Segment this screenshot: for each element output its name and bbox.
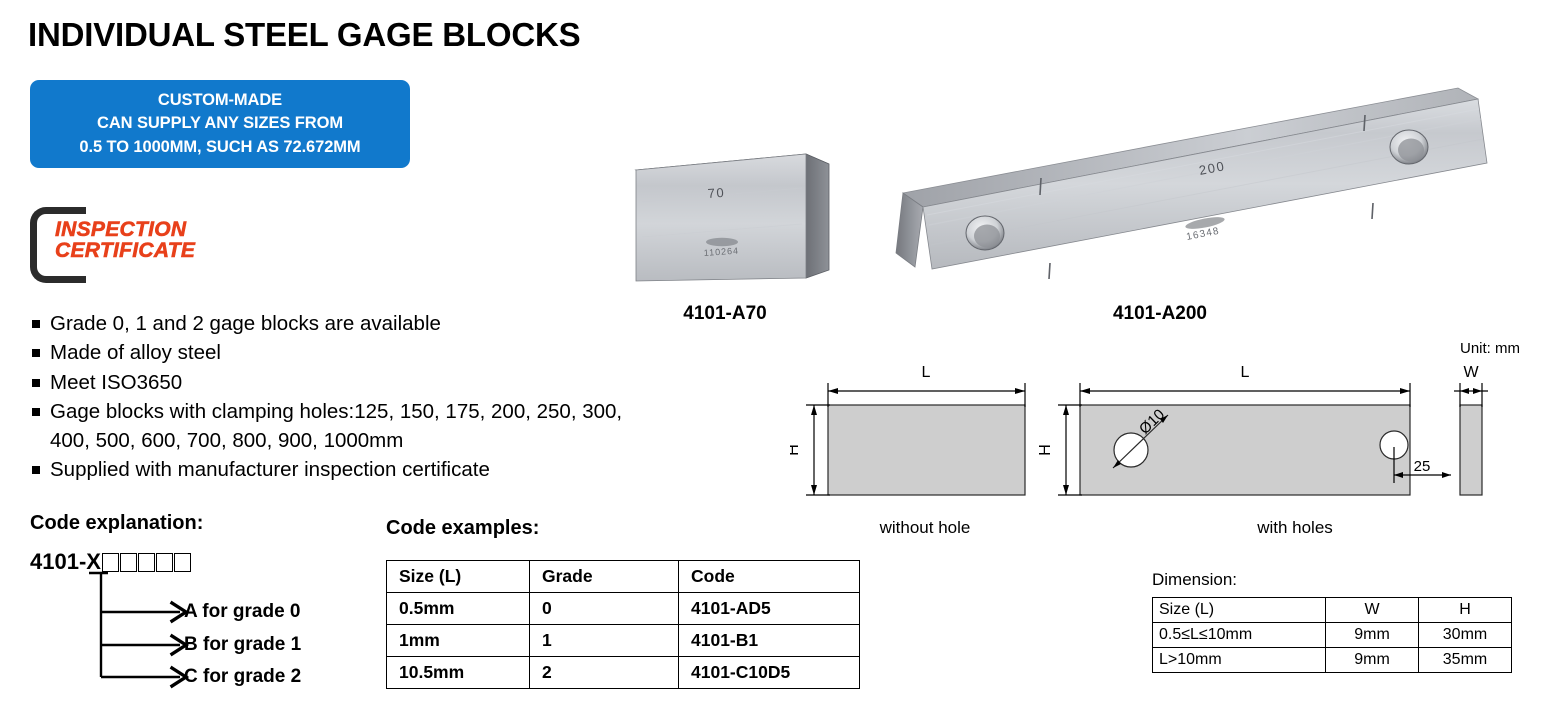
svg-text:W: W [1463,364,1479,381]
column-header-grade: Grade [530,561,679,593]
column-header-size: Size (L) [387,561,530,593]
cell-w: 9mm [1326,623,1419,648]
column-header-w: W [1326,598,1419,623]
cell-h: 35mm [1419,648,1512,673]
list-item: Grade 0, 1 and 2 gage blocks are availab… [32,310,632,338]
column-header-size: Size (L) [1153,598,1326,623]
inspection-logo-text: INSPECTION CERTIFICATE [55,219,195,262]
svg-text:L: L [922,364,931,381]
list-item: Made of alloy steel [32,339,632,367]
table-row: 1mm 1 4101-B1 [387,625,860,657]
code-branch-label-a: A for grade 0 [184,601,301,623]
code-examples-table: Size (L) Grade Code 0.5mm 0 4101-AD5 1mm… [386,560,860,689]
svg-text:70: 70 [707,185,725,201]
product-label-4101-a70: 4101-A70 [610,303,840,325]
svg-text:H: H [790,444,802,456]
square-bullet-icon [32,349,40,357]
square-bullet-icon [32,320,40,328]
svg-text:L: L [1241,364,1250,381]
cell-code: 4101-AD5 [679,593,860,625]
cell-size: 0.5mm [387,593,530,625]
square-bullet-icon [32,408,40,416]
code-branch-label-b: B for grade 1 [184,634,301,656]
cell-code: 4101-B1 [679,625,860,657]
cell-size: 1mm [387,625,530,657]
badge-line-1: CUSTOM-MADE [158,89,282,112]
feature-text: Supplied with manufacturer inspection ce… [50,456,632,484]
cell-grade: 2 [530,657,679,689]
code-explanation-title: Code explanation: [30,512,203,535]
feature-text: Grade 0, 1 and 2 gage blocks are availab… [50,310,632,338]
column-header-code: Code [679,561,860,593]
code-branch-label-c: C for grade 2 [184,666,301,688]
table-row: L>10mm 9mm 35mm [1153,648,1512,673]
column-header-h: H [1419,598,1512,623]
inspection-logo-line-1: INSPECTION [55,219,195,240]
inspection-logo-line-2: CERTIFICATE [55,240,195,261]
code-box [102,553,119,572]
list-item: Gage blocks with clamping holes:125, 150… [32,398,632,455]
page-title: INDIVIDUAL STEEL GAGE BLOCKS [28,16,580,54]
feature-text: Meet ISO3650 [50,369,632,397]
table-row: 0.5≤L≤10mm 9mm 30mm [1153,623,1512,648]
cell-code: 4101-C10D5 [679,657,860,689]
table-header-row: Size (L) Grade Code [387,561,860,593]
dimension-title: Dimension: [1152,570,1237,590]
cell-grade: 1 [530,625,679,657]
drawing-caption-without-hole: without hole [800,518,1050,538]
cell-size: 10.5mm [387,657,530,689]
table-row: 0.5mm 0 4101-AD5 [387,593,860,625]
list-item: Meet ISO3650 [32,369,632,397]
technical-drawings: L L W H H Ø10 25 [790,355,1554,545]
dimension-table: Size (L) W H 0.5≤L≤10mm 9mm 30mm L>10mm … [1152,597,1512,673]
svg-text:25: 25 [1414,458,1431,475]
list-item: Supplied with manufacturer inspection ce… [32,456,632,484]
svg-text:H: H [1037,444,1054,456]
badge-line-3: 0.5 TO 1000MM, SUCH AS 72.672MM [79,136,360,159]
feature-text: Gage blocks with clamping holes:125, 150… [50,398,632,455]
product-photo-4101-a200: 200 16348 [895,85,1495,300]
feature-list: Grade 0, 1 and 2 gage blocks are availab… [32,310,632,486]
cell-grade: 0 [530,593,679,625]
feature-text: Made of alloy steel [50,339,632,367]
code-box [174,553,191,572]
square-bullet-icon [32,379,40,387]
code-examples-title: Code examples: [386,517,539,540]
square-bullet-icon [32,466,40,474]
product-photo-4101-a70: 70 110264 [630,142,840,292]
inspection-certificate-logo: INSPECTION CERTIFICATE [28,205,268,277]
code-box [156,553,173,572]
custom-made-badge: CUSTOM-MADE CAN SUPPLY ANY SIZES FROM 0.… [30,80,410,168]
table-row: 10.5mm 2 4101-C10D5 [387,657,860,689]
cell-size: 0.5≤L≤10mm [1153,623,1326,648]
code-box [120,553,137,572]
code-pattern-boxes [102,553,192,572]
cell-w: 9mm [1326,648,1419,673]
code-box [138,553,155,572]
product-label-4101-a200: 4101-A200 [1000,303,1320,325]
badge-line-2: CAN SUPPLY ANY SIZES FROM [97,112,343,135]
cell-h: 30mm [1419,623,1512,648]
table-header-row: Size (L) W H [1153,598,1512,623]
drawing-caption-with-holes: with holes [1155,518,1435,538]
cell-size: L>10mm [1153,648,1326,673]
